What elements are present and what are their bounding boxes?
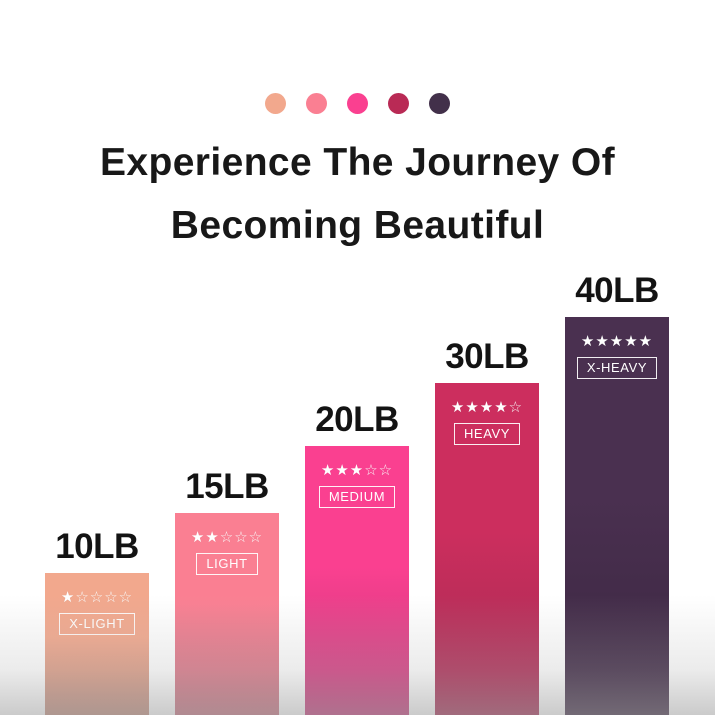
star-filled-icon: ★	[480, 399, 494, 416]
star-empty-icon: ☆	[90, 589, 104, 606]
bar-group-x-heavy[interactable]: 40LB★★★★★X-HEAVY	[565, 255, 669, 715]
star-filled-icon: ★	[61, 589, 75, 606]
star-rating: ★★★☆☆	[321, 462, 393, 480]
bar-group-light[interactable]: 15LB★★☆☆☆LIGHT	[175, 451, 279, 715]
star-empty-icon: ☆	[234, 529, 248, 546]
star-filled-icon: ★	[494, 399, 508, 416]
star-empty-icon: ☆	[509, 399, 523, 416]
bar-group-heavy[interactable]: 30LB★★★★☆HEAVY	[435, 321, 539, 715]
star-empty-icon: ☆	[104, 589, 118, 606]
star-filled-icon: ★	[610, 333, 624, 350]
bar-light[interactable]: ★★☆☆☆LIGHT	[175, 513, 279, 715]
star-filled-icon: ★	[465, 399, 479, 416]
bar-heavy[interactable]: ★★★★☆HEAVY	[435, 383, 539, 715]
level-badge: X-LIGHT	[59, 613, 134, 635]
star-rating: ★★☆☆☆	[191, 529, 263, 547]
bar-medium[interactable]: ★★★☆☆MEDIUM	[305, 446, 409, 715]
level-badge: LIGHT	[196, 553, 257, 575]
resistance-band-bar-chart: 10LB★☆☆☆☆X-LIGHT15LB★★☆☆☆LIGHT20LB★★★☆☆M…	[0, 0, 715, 715]
bar-content: ★★★★☆HEAVY	[435, 399, 539, 445]
bar-weight-label: 15LB	[185, 467, 269, 507]
bar-weight-label: 30LB	[445, 337, 529, 377]
star-empty-icon: ☆	[364, 462, 378, 479]
star-filled-icon: ★	[321, 462, 335, 479]
bar-weight-label: 20LB	[315, 400, 399, 440]
star-filled-icon: ★	[595, 333, 609, 350]
star-rating: ★★★★☆	[451, 399, 523, 417]
star-empty-icon: ☆	[75, 589, 89, 606]
bar-content: ★☆☆☆☆X-LIGHT	[45, 589, 149, 635]
star-filled-icon: ★	[335, 462, 349, 479]
star-empty-icon: ☆	[249, 529, 263, 546]
bar-x-light[interactable]: ★☆☆☆☆X-LIGHT	[45, 573, 149, 715]
star-filled-icon: ★	[205, 529, 219, 546]
star-empty-icon: ☆	[119, 589, 133, 606]
poster-canvas: Experience The Journey Of Becoming Beaut…	[0, 0, 715, 715]
star-filled-icon: ★	[451, 399, 465, 416]
star-empty-icon: ☆	[220, 529, 234, 546]
star-filled-icon: ★	[624, 333, 638, 350]
star-filled-icon: ★	[350, 462, 364, 479]
star-rating: ★★★★★	[581, 333, 653, 351]
star-filled-icon: ★	[191, 529, 205, 546]
bar-content: ★★☆☆☆LIGHT	[175, 529, 279, 575]
star-rating: ★☆☆☆☆	[61, 589, 133, 607]
bar-weight-label: 10LB	[55, 527, 139, 567]
bar-content: ★★★★★X-HEAVY	[565, 333, 669, 379]
star-filled-icon: ★	[639, 333, 653, 350]
star-filled-icon: ★	[581, 333, 595, 350]
star-empty-icon: ☆	[379, 462, 393, 479]
bar-content: ★★★☆☆MEDIUM	[305, 462, 409, 508]
level-badge: HEAVY	[454, 423, 520, 445]
level-badge: MEDIUM	[319, 486, 395, 508]
bar-weight-label: 40LB	[575, 271, 659, 311]
bar-group-x-light[interactable]: 10LB★☆☆☆☆X-LIGHT	[45, 511, 149, 715]
level-badge: X-HEAVY	[577, 357, 657, 379]
bar-group-medium[interactable]: 20LB★★★☆☆MEDIUM	[305, 384, 409, 715]
bar-x-heavy[interactable]: ★★★★★X-HEAVY	[565, 317, 669, 715]
